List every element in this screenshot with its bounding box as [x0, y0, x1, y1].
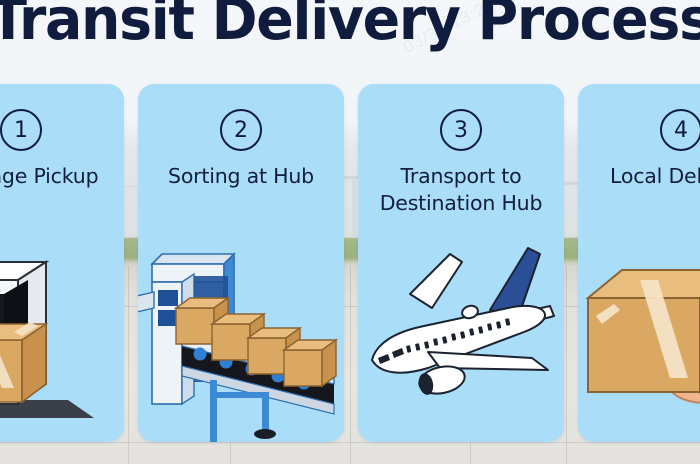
step-card-4[interactable]: 4 Local Delivery [578, 84, 700, 442]
step-number-badge-1: 1 [0, 109, 42, 151]
step-label-1: Package Pickup [0, 163, 114, 190]
truck-icon [0, 232, 124, 442]
slide-canvas: 03/31 13:2 03/31 13:2 03/31 13:2 03/31 1… [0, 0, 700, 464]
step-number-badge-2: 2 [220, 109, 262, 151]
step-number-badge-3: 3 [440, 109, 482, 151]
conveyor-belt-icon [138, 232, 344, 442]
step-card-2[interactable]: 2 Sorting at Hub [138, 84, 344, 442]
step-card-3[interactable]: 3 Transport to Destination Hub [358, 84, 564, 442]
step-label-4: Local Delivery [588, 163, 700, 190]
step-number-badge-4: 4 [660, 109, 700, 151]
page-title: Transit Delivery Process [0, 0, 700, 48]
step-label-2: Sorting at Hub [148, 163, 334, 190]
airplane-icon [358, 232, 564, 442]
step-label-3: Transport to Destination Hub [368, 163, 554, 217]
process-steps-row: 1 Package Pickup [0, 84, 700, 442]
step-card-1[interactable]: 1 Package Pickup [0, 84, 124, 442]
hands-holding-box-icon [578, 232, 700, 442]
